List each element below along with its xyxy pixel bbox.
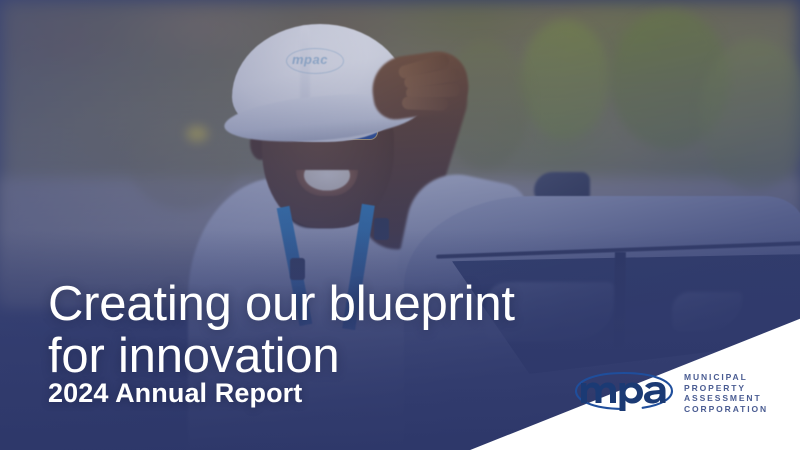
mpac-wordmark-icon — [572, 368, 674, 414]
annual-report-cover: mpac Creating our blueprint for innovati… — [0, 0, 800, 450]
report-subtitle: 2024 Annual Report — [48, 378, 302, 409]
mpac-full-name: MUNICIPAL PROPERTY ASSESSMENT CORPORATIO… — [684, 372, 768, 414]
mpac-logo: MUNICIPAL PROPERTY ASSESSMENT CORPORATIO… — [572, 368, 796, 424]
page-title: Creating our blueprint for innovation — [48, 278, 515, 382]
